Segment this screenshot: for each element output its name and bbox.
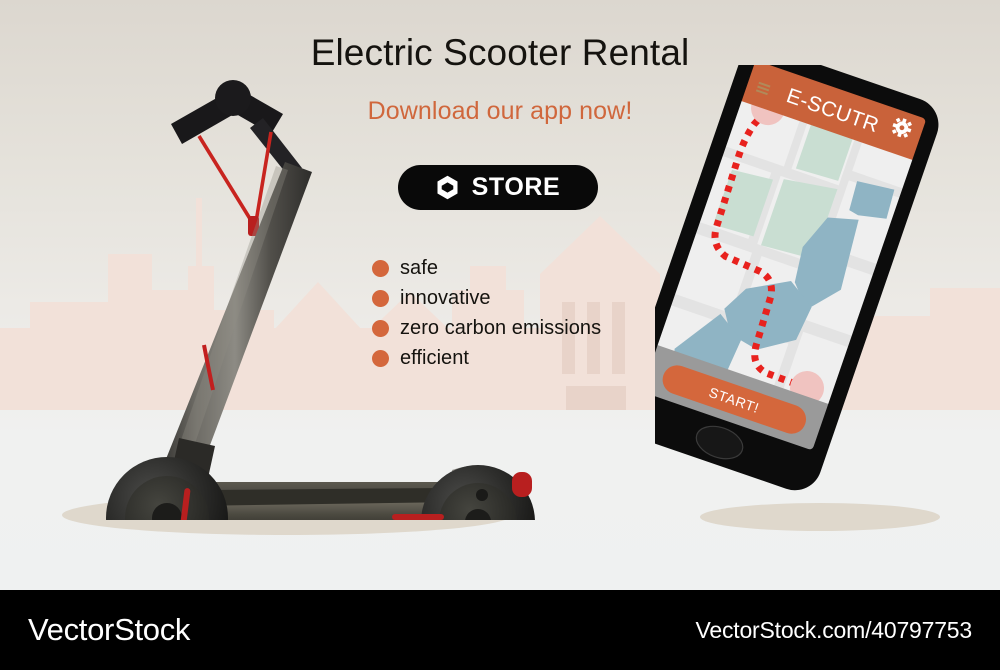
poster-canvas: Electric Scooter Rental Download our app…: [0, 0, 1000, 670]
vectorstock-url: VectorStock.com/40797753: [696, 617, 973, 644]
taillight: [512, 472, 532, 497]
electric-scooter-illustration: [40, 40, 540, 520]
watermark-footer: VectorStock VectorStock.com/40797753: [0, 590, 1000, 670]
smartphone-svg: START! E-SCUTR: [655, 65, 945, 505]
handlebar: [171, 80, 302, 177]
vectorstock-logo: VectorStock: [28, 612, 190, 648]
brake-cables: [199, 132, 271, 222]
illustration-artboard: Electric Scooter Rental Download our app…: [0, 0, 1000, 590]
phone-shadow: [700, 503, 940, 531]
smartphone-mockup: START! E-SCUTR: [655, 65, 945, 505]
